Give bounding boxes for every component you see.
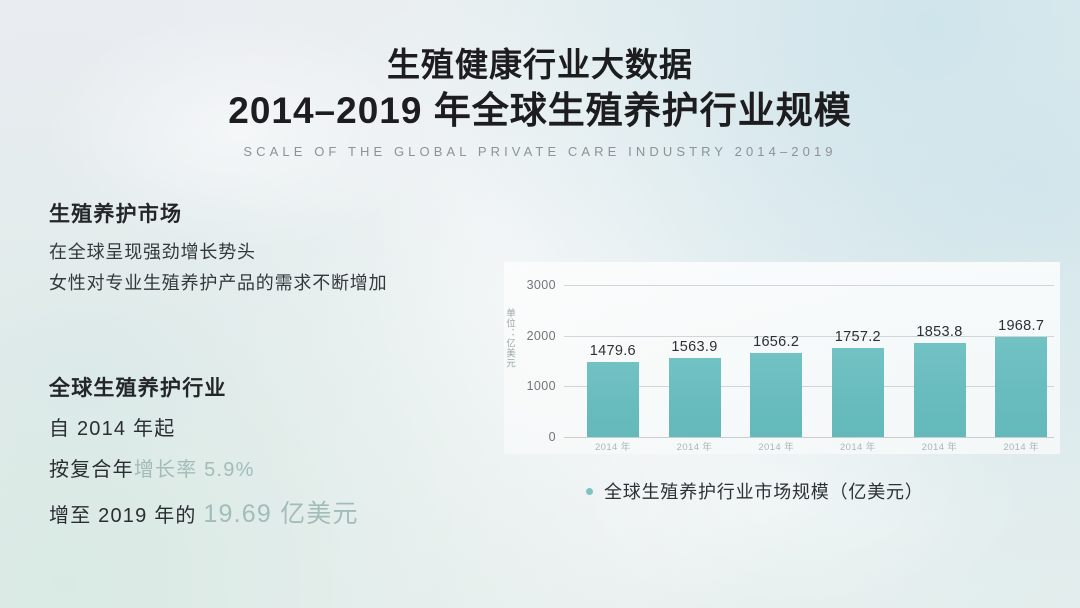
y-tick-label-0: 0 [504, 430, 556, 444]
bar[interactable] [587, 362, 639, 437]
bar-value-label: 1563.9 [671, 339, 717, 355]
slide-canvas: 生殖健康行业大数据 2014–2019 年全球生殖养护行业规模 SCALE OF… [0, 0, 1080, 608]
y-tick-label-1000: 1000 [504, 379, 556, 393]
market-section-line-2: 女性对专业生殖养护产品的需求不断增加 [49, 271, 499, 295]
market-section-line-1: 在全球呈现强劲增长势头 [49, 240, 499, 264]
bar-group[interactable]: 1656.2 [750, 334, 802, 437]
chart-bars: 1479.62014 年1563.92014 年1656.22014 年1757… [564, 262, 1054, 454]
title-block: 生殖健康行业大数据 2014–2019 年全球生殖养护行业规模 SCALE OF… [0, 44, 1080, 159]
industry-cagr-prefix: 按复合年 [49, 459, 134, 481]
bar-group[interactable]: 1968.7 [995, 318, 1047, 437]
page-title-line1: 生殖健康行业大数据 [0, 44, 1080, 85]
legend-dot-icon [586, 488, 593, 495]
industry-section-heading: 全球生殖养护行业 [49, 372, 519, 402]
page-title-line2: 2014–2019 年全球生殖养护行业规模 [0, 87, 1080, 134]
bar[interactable] [995, 337, 1047, 437]
y-tick-label-3000: 3000 [504, 278, 556, 292]
bar-value-label: 1853.8 [916, 324, 962, 340]
bar[interactable] [832, 348, 884, 437]
legend-label: 全球生殖养护行业市场规模（亿美元） [604, 478, 924, 504]
industry-total-prefix: 增至 2019 年的 [49, 505, 197, 527]
y-tick-label-2000: 2000 [504, 329, 556, 343]
x-axis-category-label: 2014 年 [914, 439, 966, 453]
bar[interactable] [669, 358, 721, 437]
bar-group[interactable]: 1757.2 [832, 329, 884, 437]
market-section-heading: 生殖养护市场 [49, 198, 499, 228]
chart-legend: 全球生殖养护行业市场规模（亿美元） [586, 478, 924, 504]
x-axis-category-label: 2014 年 [750, 439, 802, 453]
bar-value-label: 1968.7 [998, 318, 1044, 334]
bar-value-label: 1479.6 [590, 343, 636, 359]
x-axis-category-label: 2014 年 [669, 439, 721, 453]
x-axis-category-label: 2014 年 [995, 439, 1047, 453]
bar-group[interactable]: 1563.9 [669, 339, 721, 437]
bar-value-label: 1656.2 [753, 334, 799, 350]
x-axis-category-label: 2014 年 [832, 439, 884, 453]
bar[interactable] [750, 353, 802, 437]
x-axis-category-label: 2014 年 [587, 439, 639, 453]
industry-line-since: 自 2014 年起 [49, 416, 519, 443]
bar-chart: 单位：亿美元 0100020003000 1479.62014 年1563.92… [504, 262, 1060, 454]
industry-line-total: 增至 2019 年的 19.69 亿美元 [49, 498, 519, 532]
industry-line-cagr: 按复合年增长率 5.9% [49, 457, 519, 484]
industry-section: 全球生殖养护行业 自 2014 年起 按复合年增长率 5.9% 增至 2019 … [49, 372, 519, 532]
industry-cagr-highlight: 增长率 5.9% [134, 459, 255, 481]
industry-total-highlight: 19.69 亿美元 [203, 500, 358, 528]
market-section: 生殖养护市场 在全球呈现强劲增长势头 女性对专业生殖养护产品的需求不断增加 [49, 198, 499, 296]
page-subtitle: SCALE OF THE GLOBAL PRIVATE CARE INDUSTR… [0, 144, 1080, 159]
bar-group[interactable]: 1853.8 [914, 324, 966, 437]
bar-value-label: 1757.2 [835, 329, 881, 345]
bar-group[interactable]: 1479.6 [587, 343, 639, 437]
bar[interactable] [914, 343, 966, 437]
